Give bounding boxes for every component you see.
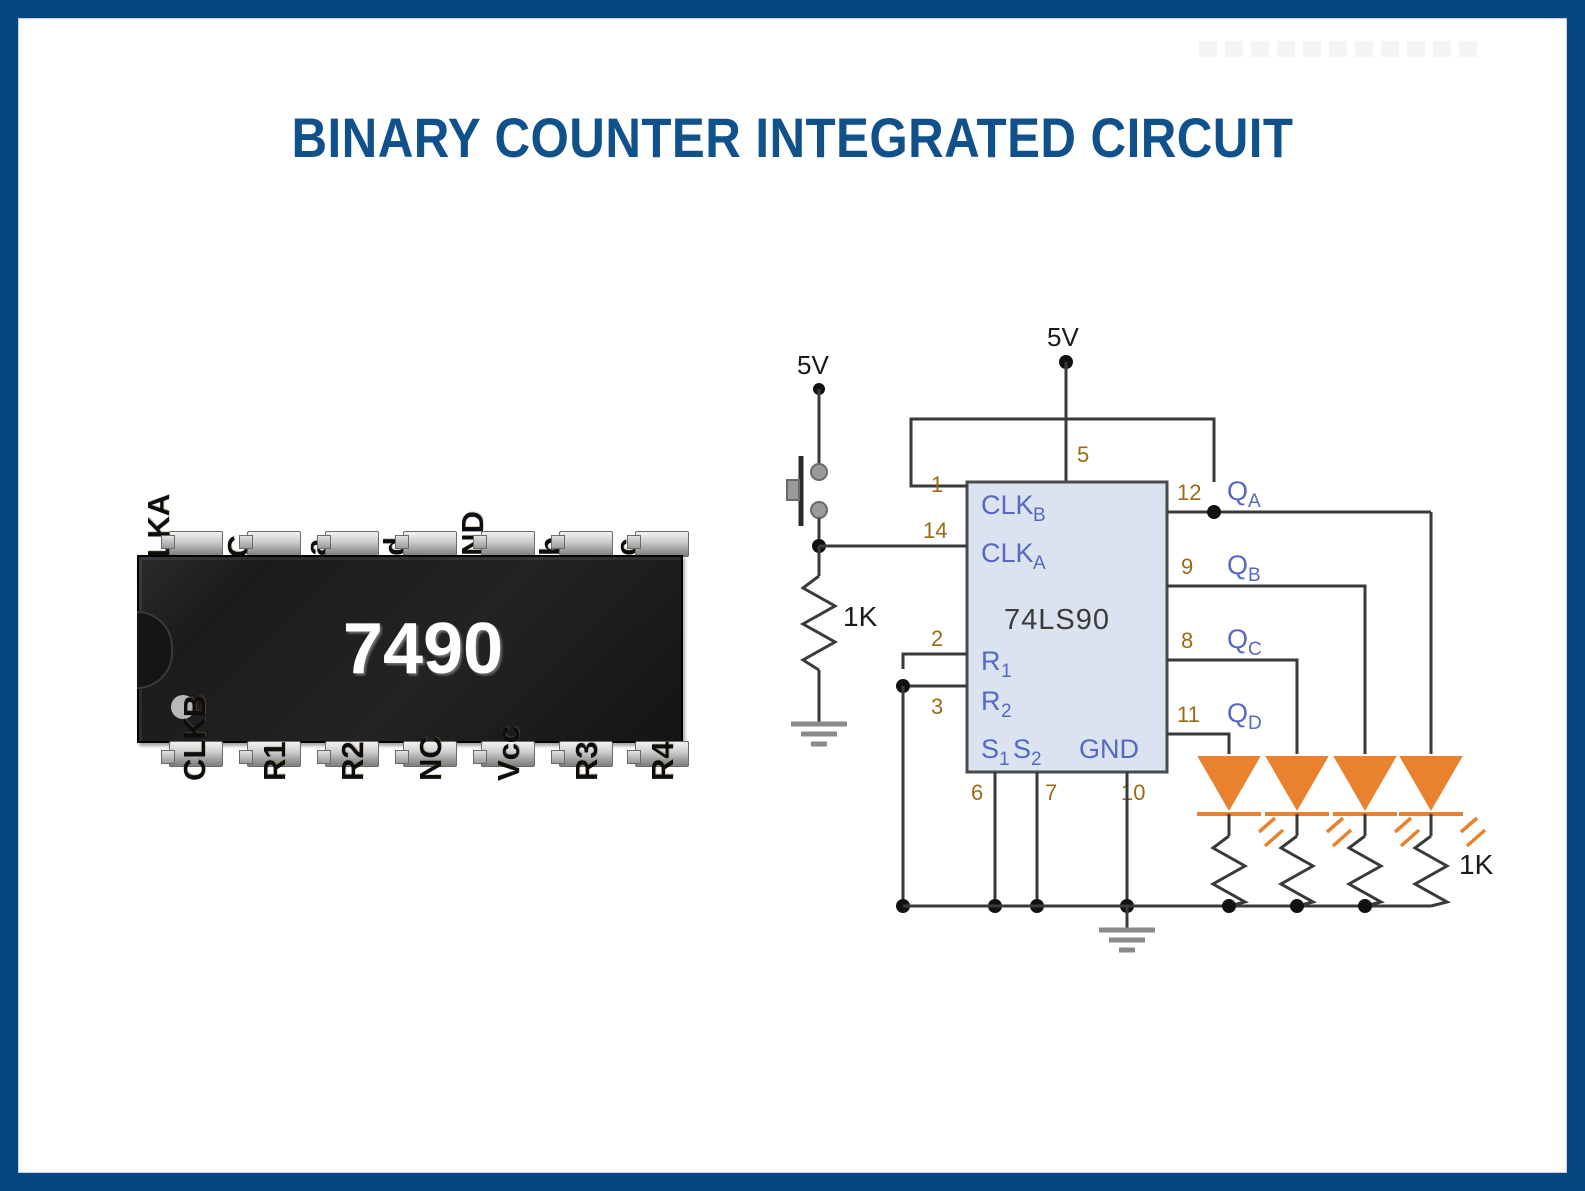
poster-frame: BINARY COUNTER INTEGRATED CIRCUIT CLKA N…: [0, 0, 1585, 1191]
poster-canvas: BINARY COUNTER INTEGRATED CIRCUIT CLKA N…: [18, 18, 1567, 1173]
pin-tab-icon: [627, 535, 641, 549]
dip-bottom-label-5: R3: [569, 741, 605, 781]
ic-pin-label-r2: R: [981, 686, 1001, 716]
led-triangle-4-icon: [1401, 757, 1461, 809]
dip-bottom-label-2: R2: [335, 741, 371, 781]
pin-tab-icon: [161, 750, 175, 764]
dip-pin-top-4: [403, 531, 457, 557]
wire-qb-to-led3: [1167, 586, 1365, 754]
dip-bottom-label-3: NC: [413, 736, 449, 781]
ic-pin-label-s1: S: [981, 734, 999, 764]
resistor-label-outputs: 1K: [1459, 849, 1494, 880]
pin-tab-icon: [473, 535, 487, 549]
resistor-pulldown-icon: [803, 576, 835, 670]
output-label-qb: Q: [1227, 550, 1248, 580]
ic-pin-number-11: 11: [1177, 702, 1200, 727]
dip-body: 7490: [137, 555, 683, 743]
output-sub-qc: C: [1248, 639, 1262, 660]
pin-tab-icon: [239, 750, 253, 764]
ic-pin-sub-r1: 1: [1001, 661, 1012, 682]
dip-pin-top-1: [169, 531, 223, 557]
output-label-qd: Q: [1227, 698, 1248, 728]
ic-pin-number-6: 6: [971, 780, 983, 805]
ic-pin-label-clka: CLK: [981, 538, 1034, 568]
dip-package-illustration: CLKA NC Qa Qd GND Qb Qc 7490: [129, 409, 729, 899]
switch-terminal-bottom[interactable]: [811, 502, 827, 518]
schematic-diagram: 5V 1K: [759, 314, 1519, 964]
output-sub-qa: A: [1248, 491, 1261, 512]
ic-pin-number-3: 3: [931, 694, 943, 719]
node-dot-res3-gnd: [1358, 899, 1372, 913]
node-dot-res1-gnd: [1222, 899, 1236, 913]
resistor-1-icon: [1213, 836, 1245, 906]
ic-pin-label-gnd: GND: [1079, 734, 1139, 764]
output-sub-qb: B: [1248, 565, 1261, 586]
pin-tab-icon: [161, 535, 175, 549]
wire-pin1-to-vcc: [911, 419, 1214, 486]
dip-bottom-label-0: CLKB: [177, 695, 213, 781]
ic-pin-number-1: 1: [931, 472, 943, 497]
node-dot-qa-vcc: [1207, 505, 1221, 519]
resistor-3-icon: [1349, 836, 1381, 906]
resistor-4-icon: [1415, 836, 1447, 906]
pin-tab-icon: [473, 750, 487, 764]
led-ray-2a-icon: [1327, 818, 1343, 832]
dip-pin-top-5: [481, 531, 535, 557]
ic-pin-number-12: 12: [1177, 480, 1201, 505]
ic-part-number: 74LS90: [1004, 604, 1110, 636]
ic-pin-number-2: 2: [931, 626, 943, 651]
led-ray-4a-icon: [1461, 818, 1477, 832]
resistor-label-input: 1K: [843, 601, 878, 632]
output-sub-qd: D: [1248, 713, 1262, 734]
led-triangle-1-icon: [1199, 757, 1259, 809]
ic-pin-number-9: 9: [1181, 554, 1193, 579]
dip-pin-top-6: [559, 531, 613, 557]
ic-pin-label-r1: R: [981, 646, 1001, 676]
dip-pin-top-2: [247, 531, 301, 557]
dip-bottom-label-4: Vcc: [491, 726, 527, 781]
page-title: BINARY COUNTER INTEGRATED CIRCUIT: [112, 105, 1473, 170]
dip-pin-top-7: [635, 531, 689, 557]
ic-pin-sub-s2: 2: [1031, 749, 1042, 770]
pin-tab-icon: [627, 750, 641, 764]
ic-pin-sub-r2: 2: [1001, 701, 1012, 722]
ic-pin-number-7: 7: [1045, 780, 1057, 805]
output-label-qa: Q: [1227, 476, 1248, 506]
ic-pin-sub-s1: 1: [999, 749, 1010, 770]
ic-pin-number-5: 5: [1077, 442, 1089, 467]
pin-tab-icon: [239, 535, 253, 549]
ic-pin-sub-clkb: B: [1033, 505, 1046, 526]
pin-tab-icon: [395, 750, 409, 764]
node-dot-res2-gnd: [1290, 899, 1304, 913]
supply-label-switch: 5V: [797, 350, 829, 380]
dip-pin-top-3: [325, 531, 379, 557]
pin-tab-icon: [551, 750, 565, 764]
dip-bottom-label-6: R4: [645, 741, 681, 781]
ic-pin-number-10: 10: [1121, 780, 1145, 805]
supply-label-vcc: 5V: [1047, 322, 1079, 352]
switch-terminal-top[interactable]: [811, 464, 827, 480]
ic-pin-label-s2: S: [1013, 734, 1031, 764]
dip-part-number: 7490: [139, 557, 681, 741]
led-triangle-2-icon: [1267, 757, 1327, 809]
watermark-artifact: [1199, 41, 1479, 57]
ic-pin-number-8: 8: [1181, 628, 1193, 653]
switch-actuator-icon[interactable]: [787, 480, 799, 500]
output-label-qc: Q: [1227, 624, 1248, 654]
wire-pin2-to-node: [903, 654, 967, 669]
pin-tab-icon: [317, 535, 331, 549]
led-ray-2b-icon: [1333, 830, 1351, 846]
pin-tab-icon: [395, 535, 409, 549]
led-ray-1b-icon: [1265, 830, 1283, 846]
pin-tab-icon: [317, 750, 331, 764]
ic-pin-sub-clka: A: [1033, 553, 1046, 574]
led-ray-4b-icon: [1467, 830, 1485, 846]
ic-pin-number-14: 14: [923, 518, 947, 543]
led-triangle-3-icon: [1335, 757, 1395, 809]
resistor-2-icon: [1281, 836, 1313, 906]
ic-pin-label-clkb: CLK: [981, 490, 1034, 520]
dip-bottom-label-1: R1: [257, 741, 293, 781]
led-ray-3a-icon: [1395, 818, 1411, 832]
pin-tab-icon: [551, 535, 565, 549]
led-ray-3b-icon: [1401, 830, 1419, 846]
led-ray-1a-icon: [1259, 818, 1275, 832]
wire-qd-to-led1: [1167, 734, 1229, 754]
